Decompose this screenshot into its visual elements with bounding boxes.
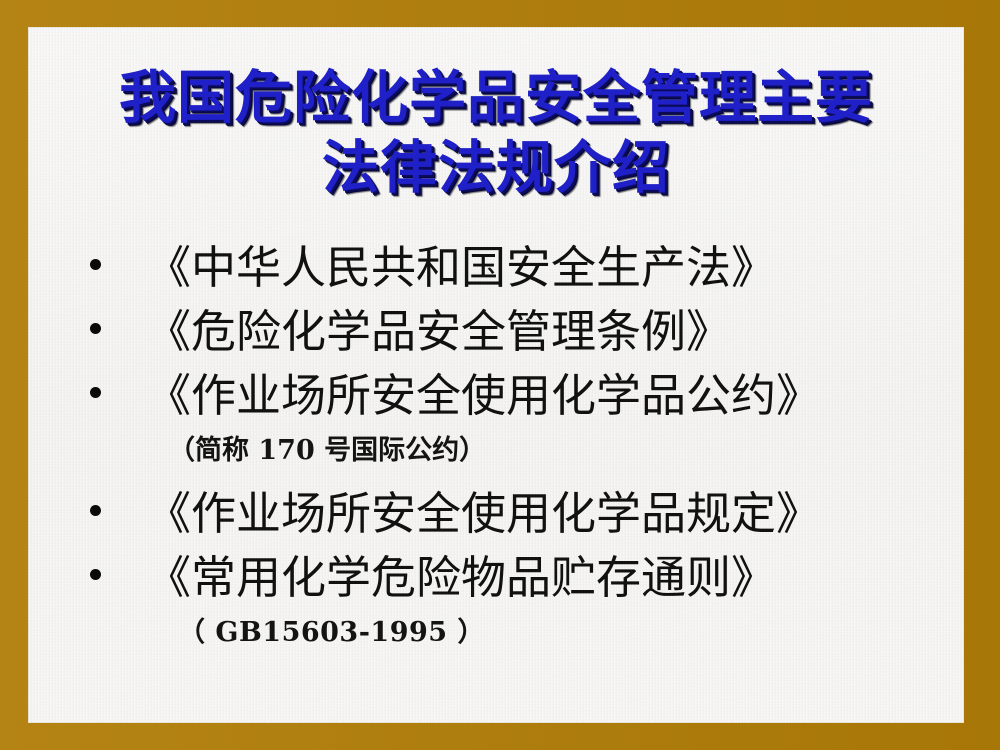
- list-item[interactable]: 《中华人民共和国安全生产法》: [28, 237, 964, 301]
- bullet-dot-icon: [90, 387, 101, 398]
- list-item[interactable]: 《作业场所安全使用化学品规定》: [28, 483, 964, 547]
- list-item-label: 《常用化学危险物品贮存通则》: [86, 547, 776, 609]
- bullet-dot-icon: [90, 505, 101, 516]
- list-item-label: 《危险化学品安全管理条例》: [86, 301, 731, 363]
- bullet-dot-icon: [90, 569, 101, 580]
- list-item-label: 《中华人民共和国安全生产法》: [86, 237, 776, 299]
- list-item[interactable]: 《常用化学危险物品贮存通则》: [28, 547, 964, 611]
- bullet-dot-icon: [90, 323, 101, 334]
- bullet-list: 《中华人民共和国安全生产法》 《危险化学品安全管理条例》 《作业场所安全使用化学…: [28, 237, 964, 655]
- page-title: 我国危险化学品安全管理主要 法律法规介绍: [28, 63, 964, 203]
- list-item[interactable]: 《危险化学品安全管理条例》: [28, 301, 964, 365]
- list-item-label: 《作业场所安全使用化学品公约》: [86, 365, 821, 427]
- slide-frame: 我国危险化学品安全管理主要 法律法规介绍 《中华人民共和国安全生产法》 《危险化…: [0, 0, 1000, 750]
- spacer: [28, 473, 964, 483]
- list-item-note: （简称 170 号国际公约）: [28, 429, 964, 473]
- list-item[interactable]: 《作业场所安全使用化学品公约》: [28, 365, 964, 429]
- slide-page: 我国危险化学品安全管理主要 法律法规介绍 《中华人民共和国安全生产法》 《危险化…: [28, 27, 964, 723]
- list-item-label: 《作业场所安全使用化学品规定》: [86, 483, 821, 545]
- bullet-dot-icon: [90, 259, 101, 270]
- title-line-1: 我国危险化学品安全管理主要: [28, 63, 964, 133]
- title-line-2: 法律法规介绍: [28, 133, 964, 203]
- list-item-note: （ GB15603-1995 ）: [28, 611, 964, 655]
